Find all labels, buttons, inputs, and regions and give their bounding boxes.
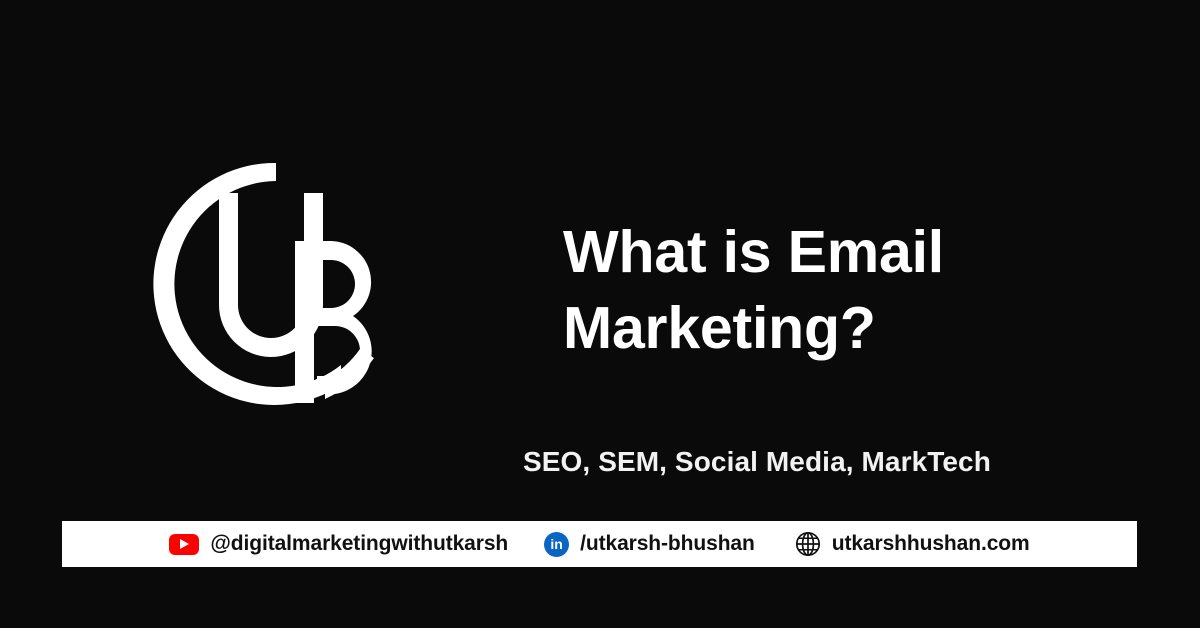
globe-icon	[795, 531, 821, 557]
linkedin-handle-label: /utkarsh-bhushan	[580, 532, 755, 556]
footer-item-youtube[interactable]: @digitalmarketingwithutkarsh	[169, 532, 508, 556]
logo-letter-b	[295, 241, 372, 403]
footer-contact-bar: @digitalmarketingwithutkarsh in /utkarsh…	[62, 521, 1137, 567]
linkedin-badge-text: in	[544, 532, 569, 557]
headline-block: What is Email Marketing?	[563, 214, 1163, 366]
page-title: What is Email Marketing?	[563, 214, 1163, 366]
brand-logo	[145, 153, 407, 415]
footer-item-website[interactable]: utkarshhushan.com	[795, 531, 1030, 557]
youtube-handle-label: @digitalmarketingwithutkarsh	[210, 532, 508, 556]
website-url-label: utkarshhushan.com	[832, 532, 1030, 556]
linkedin-icon: in	[544, 532, 569, 557]
footer-item-linkedin[interactable]: in /utkarsh-bhushan	[544, 532, 755, 557]
slide-canvas: What is Email Marketing? SEO, SEM, Socia…	[0, 0, 1200, 628]
subtitle-text: SEO, SEM, Social Media, MarkTech	[523, 446, 991, 478]
youtube-icon	[169, 534, 199, 555]
